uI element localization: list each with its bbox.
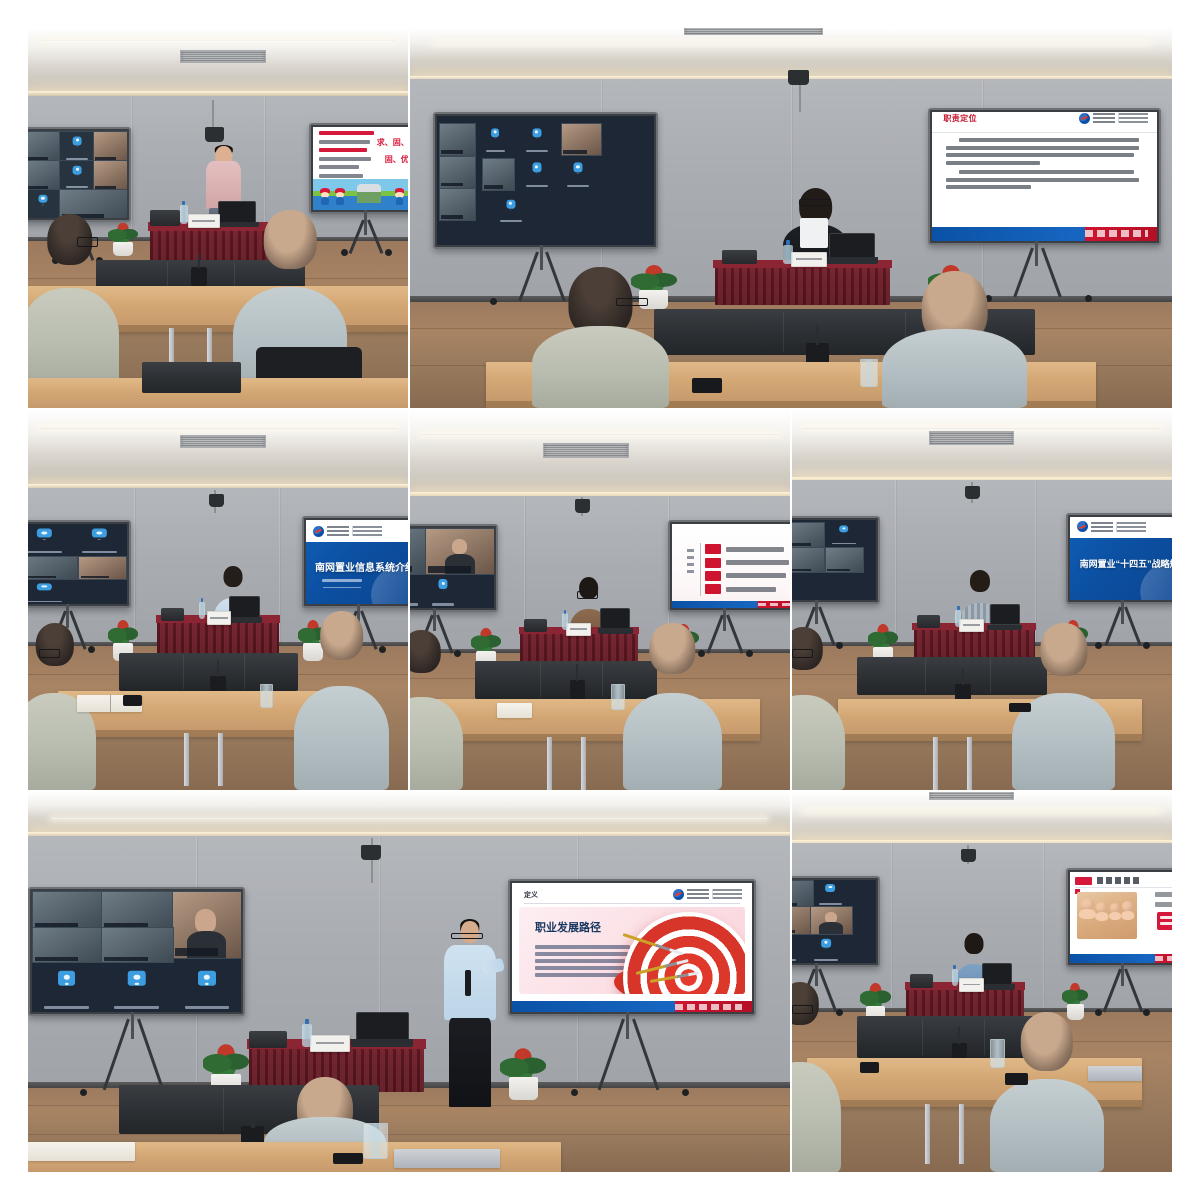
presentation-screen bbox=[1066, 868, 1172, 967]
nameplate bbox=[310, 1035, 350, 1052]
audience-member bbox=[28, 214, 119, 389]
slide-paragraphs bbox=[932, 132, 1157, 226]
camera-stalk bbox=[799, 81, 801, 111]
ceiling-camera-icon bbox=[361, 845, 381, 860]
water-bottle bbox=[180, 205, 188, 224]
potted-plant-right bbox=[500, 1047, 546, 1100]
water-glass bbox=[990, 1039, 1005, 1068]
presentation-screen: 南网置业信息系统介绍 bbox=[302, 516, 408, 607]
brand-logo-icon bbox=[673, 889, 742, 900]
water-bottle bbox=[562, 613, 568, 630]
handheld-microphone bbox=[465, 970, 470, 996]
presentation-screen: 职责定位 bbox=[928, 108, 1161, 245]
ceiling-vent-icon bbox=[684, 28, 823, 35]
panel-bottom-right bbox=[792, 792, 1172, 1172]
ceiling-vent-icon bbox=[543, 443, 629, 458]
glasses-icon bbox=[792, 1005, 813, 1014]
panel-top-left: 求、固、优 固、优 bbox=[28, 28, 408, 408]
laptop bbox=[356, 1012, 409, 1046]
water-glass bbox=[611, 684, 624, 711]
video-conference-screen bbox=[28, 520, 131, 608]
ceiling-vent-icon bbox=[929, 431, 1015, 445]
audience-member bbox=[532, 267, 669, 408]
brand-logo-icon bbox=[313, 526, 382, 537]
panel-mid-center bbox=[410, 410, 790, 790]
video-conference-screen bbox=[28, 127, 131, 222]
toc-number-04 bbox=[705, 584, 721, 594]
video-conference-screen bbox=[410, 524, 498, 612]
nameplate bbox=[791, 252, 827, 267]
career-slide-title: 职业发展路径 bbox=[535, 919, 601, 935]
ceiling-camera-icon bbox=[209, 494, 224, 507]
nameplate bbox=[566, 623, 591, 636]
audience-member-2 bbox=[623, 623, 722, 790]
ceiling-camera-icon bbox=[961, 849, 976, 862]
presentation-screen: 南网置业“十四五”战略规划 bbox=[1066, 513, 1172, 604]
tissue-box bbox=[917, 615, 940, 628]
panel-mid-right: 南网置业“十四五”战略规划 bbox=[792, 410, 1172, 790]
nameplate bbox=[959, 978, 984, 991]
smartphone bbox=[333, 1153, 363, 1164]
ceiling-vent-icon bbox=[929, 792, 1015, 800]
water-bottle bbox=[783, 245, 792, 264]
audience-member-2 bbox=[990, 1012, 1104, 1172]
glasses-icon bbox=[799, 199, 831, 206]
notebook bbox=[28, 1142, 135, 1161]
glasses-icon bbox=[77, 237, 98, 247]
glasses-icon-2 bbox=[616, 298, 648, 306]
toc-number-01 bbox=[705, 544, 721, 554]
water-bottle bbox=[199, 602, 205, 619]
tissue-box bbox=[249, 1031, 287, 1048]
video-conference-screen bbox=[792, 876, 880, 967]
safety-slogan: 求、固、优 bbox=[375, 137, 408, 149]
water-glass bbox=[363, 1123, 388, 1159]
panel-top-wide: 职责定位 bbox=[410, 28, 1172, 408]
camera-stalk bbox=[212, 100, 214, 127]
laptop bbox=[229, 596, 259, 623]
slide-title: 职责定位 bbox=[943, 113, 977, 124]
water-bottle bbox=[302, 1024, 312, 1047]
presenter-standing-with-mic bbox=[439, 921, 500, 1107]
audience-member-2 bbox=[882, 271, 1027, 408]
brand-logo-icon bbox=[1077, 521, 1146, 532]
audience-member bbox=[410, 630, 463, 790]
toc-number-03 bbox=[705, 571, 721, 581]
tissue-box bbox=[910, 974, 933, 987]
ceiling-camera-icon bbox=[205, 127, 224, 142]
slide-logo-mark bbox=[1075, 877, 1093, 885]
video-conference-screen bbox=[28, 887, 245, 1016]
nameplate bbox=[188, 214, 220, 228]
panel-bottom-wide: 定义 职业发展路径 bbox=[28, 792, 790, 1172]
ceiling-camera-icon bbox=[788, 70, 809, 85]
audience-member-2 bbox=[294, 611, 389, 790]
smartphone bbox=[123, 695, 142, 706]
safety-artwork bbox=[313, 179, 408, 211]
water-bottle bbox=[955, 610, 961, 627]
laptop-closed bbox=[394, 1149, 501, 1168]
laptop-closed bbox=[1088, 1066, 1141, 1081]
smartphone bbox=[860, 1062, 879, 1073]
presenter-shirt bbox=[800, 218, 827, 248]
ceiling-vent-icon bbox=[180, 50, 266, 63]
toc-number-02 bbox=[705, 558, 721, 568]
glasses-icon bbox=[451, 933, 483, 940]
video-conference-screen bbox=[433, 112, 658, 249]
tissue-box bbox=[150, 210, 180, 225]
nameplate bbox=[959, 619, 984, 632]
ceiling-camera-icon bbox=[575, 499, 590, 512]
tv-stand-right bbox=[531, 1012, 729, 1096]
photo-collage: 求、固、优 固、优 bbox=[28, 28, 1172, 1172]
water-glass bbox=[260, 684, 273, 709]
ceiling-vent-icon bbox=[180, 435, 266, 448]
remote-control bbox=[1009, 703, 1032, 713]
water-bottle bbox=[952, 969, 958, 986]
dartboard-icon bbox=[623, 912, 745, 994]
slide-header: 定义 bbox=[524, 890, 538, 900]
presentation-screen: 求、固、优 固、优 bbox=[309, 123, 408, 214]
conference-microphone bbox=[191, 267, 206, 286]
ceiling-camera-icon bbox=[965, 486, 980, 499]
presentation-screen: 定义 职业发展路径 bbox=[508, 879, 756, 1016]
smartphone-2 bbox=[1005, 1073, 1028, 1084]
tissue-box bbox=[722, 250, 756, 263]
glasses-icon bbox=[577, 591, 598, 599]
brand-logo-icon bbox=[1079, 113, 1148, 124]
tissue-box bbox=[161, 608, 184, 621]
highlight-badge bbox=[1157, 912, 1172, 930]
laptop bbox=[829, 233, 875, 263]
laptop bbox=[982, 963, 1012, 990]
video-conference-screen bbox=[792, 516, 880, 604]
tissue-box bbox=[524, 619, 547, 632]
notebook bbox=[497, 703, 531, 718]
glasses-icon bbox=[792, 649, 813, 658]
baby-photo bbox=[1077, 892, 1137, 939]
nameplate bbox=[207, 611, 232, 624]
tv-stand bbox=[43, 1012, 226, 1096]
smartphone bbox=[692, 378, 722, 393]
safety-slogan-2: 固、优 bbox=[375, 154, 408, 166]
presentation-screen bbox=[668, 520, 790, 611]
contents-label bbox=[687, 549, 693, 574]
monitor-bar-front bbox=[142, 362, 241, 392]
panel-mid-left: 南网置业信息系统介绍 bbox=[28, 410, 408, 790]
water-glass bbox=[860, 359, 879, 388]
slide-header-text bbox=[1097, 877, 1140, 884]
glasses-icon bbox=[39, 649, 60, 658]
slide-text-lines bbox=[1155, 892, 1172, 912]
